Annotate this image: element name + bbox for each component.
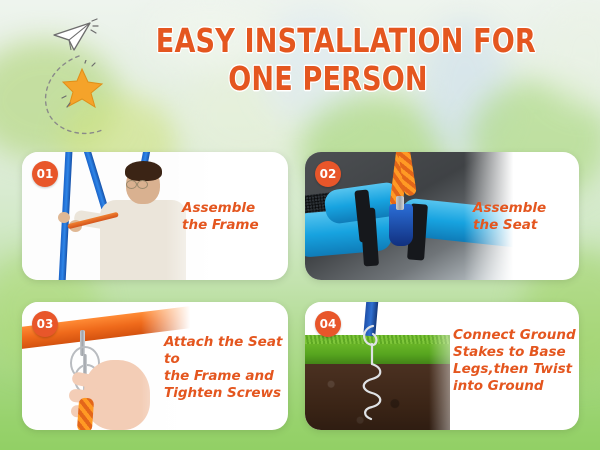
poster-title: EASY INSTALLATION FOR ONE PERSON <box>118 22 538 98</box>
title-line-2: ONE PERSON <box>156 60 500 98</box>
title-line-1: EASY INSTALLATION FOR <box>156 22 500 60</box>
step-card-2[interactable]: 02 Assemble the Seat <box>305 152 579 280</box>
infographic-poster: EASY INSTALLATION FOR ONE PERSON 01 Asse… <box>0 0 600 450</box>
step-card-3[interactable]: 03 Attach the Seat to the Frame and Tigh… <box>22 302 288 430</box>
step-4-caption: Connect Ground Stakes to Base Legs,then … <box>453 327 576 395</box>
step-4-badge: 04 <box>315 311 341 337</box>
step-1-badge: 01 <box>32 161 58 187</box>
step-3-badge: 03 <box>32 311 58 337</box>
step-1-caption: Assemble the Frame <box>182 200 259 234</box>
step-card-4[interactable]: 04 Connect Ground Stakes to Base Legs,th… <box>305 302 579 430</box>
step-3-caption: Attach the Seat to the Frame and Tighten… <box>164 334 288 402</box>
step-card-1[interactable]: 01 Assemble the Frame <box>22 152 288 280</box>
corkscrew-stake-icon <box>351 322 397 430</box>
step-2-badge: 02 <box>315 161 341 187</box>
step-2-caption: Assemble the Seat <box>473 200 546 234</box>
